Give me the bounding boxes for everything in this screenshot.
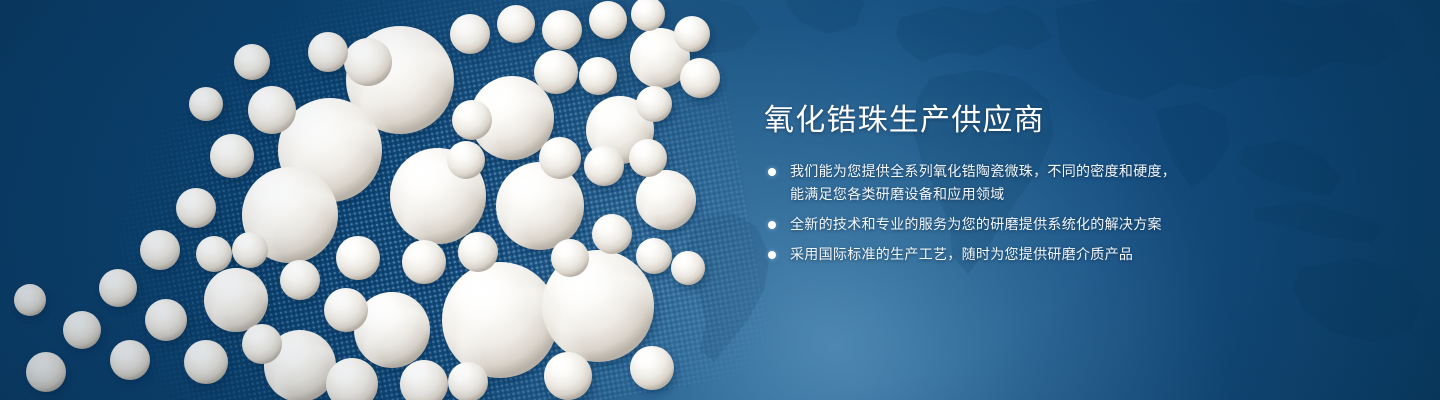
list-item: 全新的技术和专业的服务为您的研磨提供系统化的解决方案 [764,213,1234,236]
hero-banner: 氧化锆珠生产供应商 我们能为您提供全系列氧化锆陶瓷微珠，不同的密度和硬度， 能满… [0,0,1440,400]
list-item-line: 能满足您各类研磨设备和应用领域 [790,183,1234,206]
list-item-line: 全新的技术和专业的服务为您的研磨提供系统化的解决方案 [790,213,1234,236]
list-item-line: 我们能为您提供全系列氧化锆陶瓷微珠，不同的密度和硬度， [790,160,1234,183]
bullet-dot-icon [768,251,776,259]
page-title: 氧化锆珠生产供应商 [764,104,1234,138]
list-item-line: 采用国际标准的生产工艺，随时为您提供研磨介质产品 [790,243,1234,266]
bullet-dot-icon [768,168,776,176]
banner-copy: 氧化锆珠生产供应商 我们能为您提供全系列氧化锆陶瓷微珠，不同的密度和硬度， 能满… [764,104,1234,266]
list-item: 我们能为您提供全系列氧化锆陶瓷微珠，不同的密度和硬度， 能满足您各类研磨设备和应… [764,160,1234,206]
bullet-dot-icon [768,221,776,229]
feature-list: 我们能为您提供全系列氧化锆陶瓷微珠，不同的密度和硬度， 能满足您各类研磨设备和应… [764,160,1234,266]
list-item: 采用国际标准的生产工艺，随时为您提供研磨介质产品 [764,243,1234,266]
